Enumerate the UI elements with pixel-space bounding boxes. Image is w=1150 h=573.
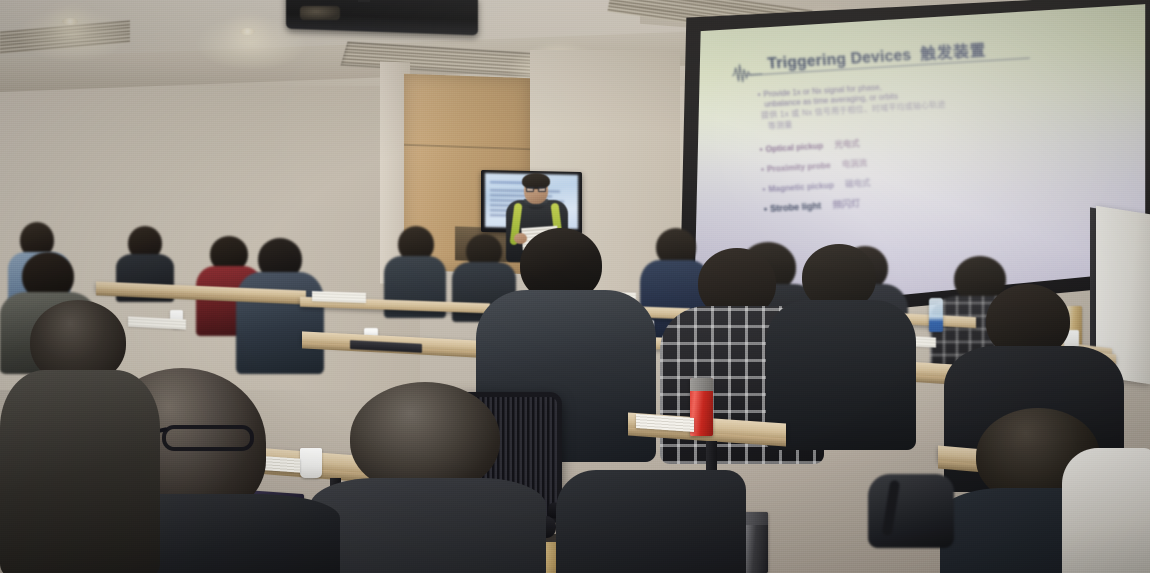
bullet-dot-icon: • <box>759 144 763 154</box>
slide-bullet: •Strobe light 频闪灯 <box>764 198 861 214</box>
waveform-icon <box>731 60 763 86</box>
slide-bullet-cn: 等测量 <box>768 120 793 132</box>
projector-mount <box>358 0 370 2</box>
light-glow <box>18 8 128 62</box>
slide-bullet: •Proximity probe 电涡流 <box>761 158 868 175</box>
attendee-foreground <box>0 300 160 573</box>
blue-water-bottle <box>929 298 943 332</box>
bullet-dot-icon: • <box>761 164 765 174</box>
attendee <box>310 382 546 573</box>
glasses-bridge <box>526 187 546 192</box>
attendee-white-shirt <box>1062 448 1150 573</box>
projector-lens-icon <box>300 6 340 20</box>
slide-bullet: •Magnetic pickup 磁电式 <box>762 178 871 195</box>
attendee <box>766 244 916 444</box>
slide: Triggering Devices触发装置 •Provide 1x or Nx… <box>728 24 1074 274</box>
handout-papers <box>312 291 366 303</box>
backpack <box>868 474 954 548</box>
bullet-dot-icon: • <box>764 204 768 214</box>
attendee-foreground <box>556 470 746 573</box>
slide-bullet: •Optical pickup 光电式 <box>759 138 860 154</box>
bullet-dot-icon: • <box>757 90 760 99</box>
bullet-dot-icon: • <box>762 184 766 194</box>
classroom-photo-scene: Triggering Devices触发装置 •Provide 1x or Nx… <box>0 0 1150 573</box>
glasses-icon <box>162 425 254 451</box>
